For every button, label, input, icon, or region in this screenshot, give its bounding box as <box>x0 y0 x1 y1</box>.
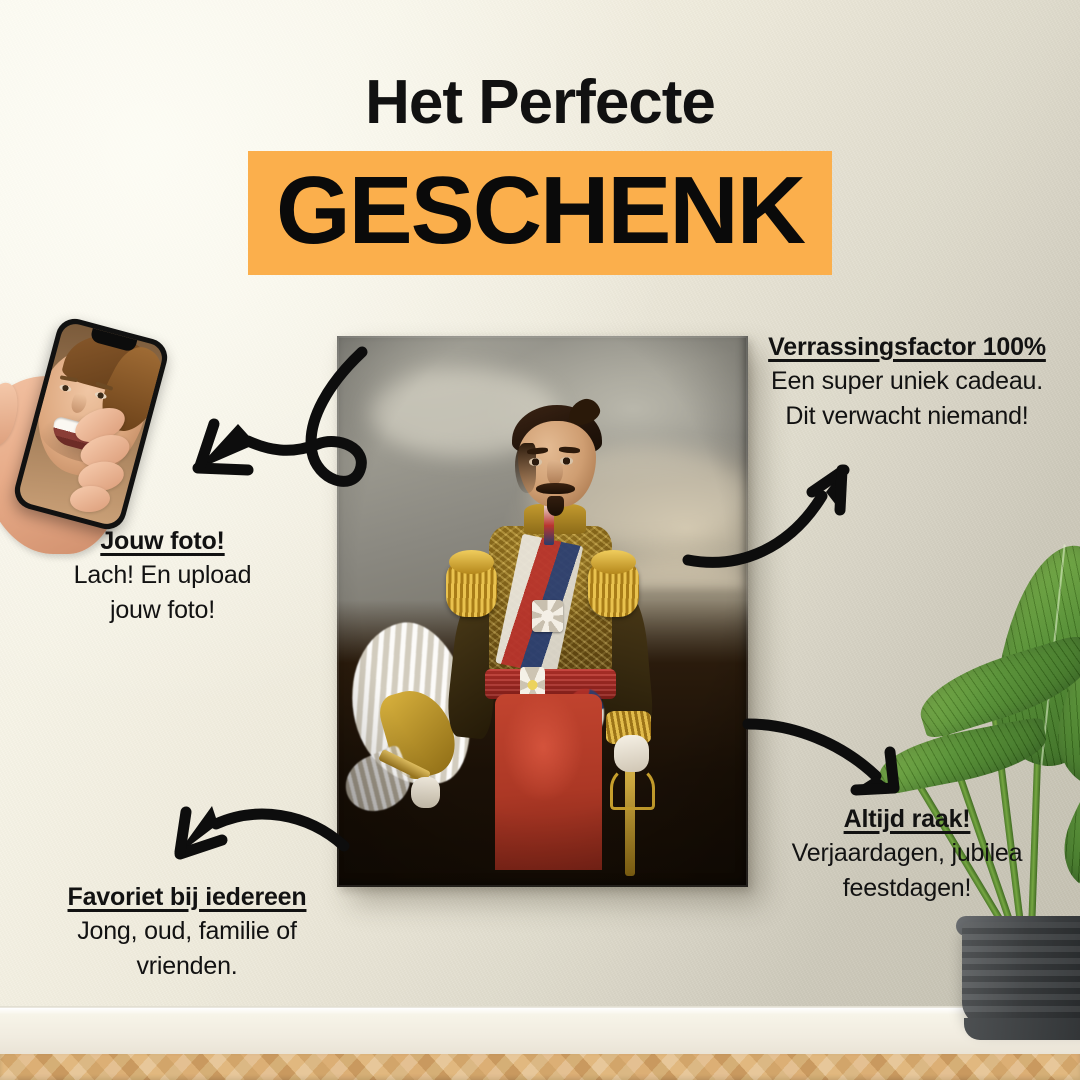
callout-body-line-2: feestdagen! <box>752 871 1062 906</box>
callout-title: Altijd raak! <box>844 802 971 836</box>
headline-line-2: GESCHENK <box>276 163 804 259</box>
callout-body-line-1: Lach! En upload <box>10 558 315 593</box>
callout-body-line-2: vrienden. <box>32 949 342 984</box>
hand-holding-phone <box>0 318 228 556</box>
callout-title: Verrassingsfactor 100% <box>768 330 1046 364</box>
page-title: Het Perfecte GESCHENK <box>0 72 1080 275</box>
parquet-floor-overlay <box>0 1054 1080 1080</box>
callout-body-line-2: Dit verwacht niemand! <box>742 399 1072 434</box>
callout-body-line-1: Verjaardagen, jubilea <box>752 836 1062 871</box>
plant-pot-saucer <box>964 1018 1080 1040</box>
callout-body-line-1: Een super uniek cadeau. <box>742 364 1072 399</box>
callout-verrassingsfactor: Verrassingsfactor 100% Een super uniek c… <box>742 330 1072 434</box>
plant-pot <box>962 922 1080 1026</box>
bird-of-paradise-plant <box>900 540 1080 1056</box>
portrait-painting <box>337 336 748 887</box>
callout-title: Jouw foto! <box>100 524 224 558</box>
advertisement-canvas: Het Perfecte GESCHENK <box>0 0 1080 1080</box>
callout-title: Favoriet bij iedereen <box>68 880 307 914</box>
callout-favoriet: Favoriet bij iedereen Jong, oud, familie… <box>32 880 342 984</box>
callout-body-line-1: Jong, oud, familie of <box>32 914 342 949</box>
callout-altijd-raak: Altijd raak! Verjaardagen, jubilea feest… <box>752 802 1062 906</box>
callout-jouw-foto: Jouw foto! Lach! En upload jouw foto! <box>10 524 315 628</box>
canvas-portrait-product[interactable] <box>337 336 748 887</box>
headline-highlight-band: GESCHENK <box>248 151 832 275</box>
canvas-edge <box>337 336 748 887</box>
callout-body-line-2: jouw foto! <box>10 593 315 628</box>
headline-line-1: Het Perfecte <box>0 72 1080 134</box>
